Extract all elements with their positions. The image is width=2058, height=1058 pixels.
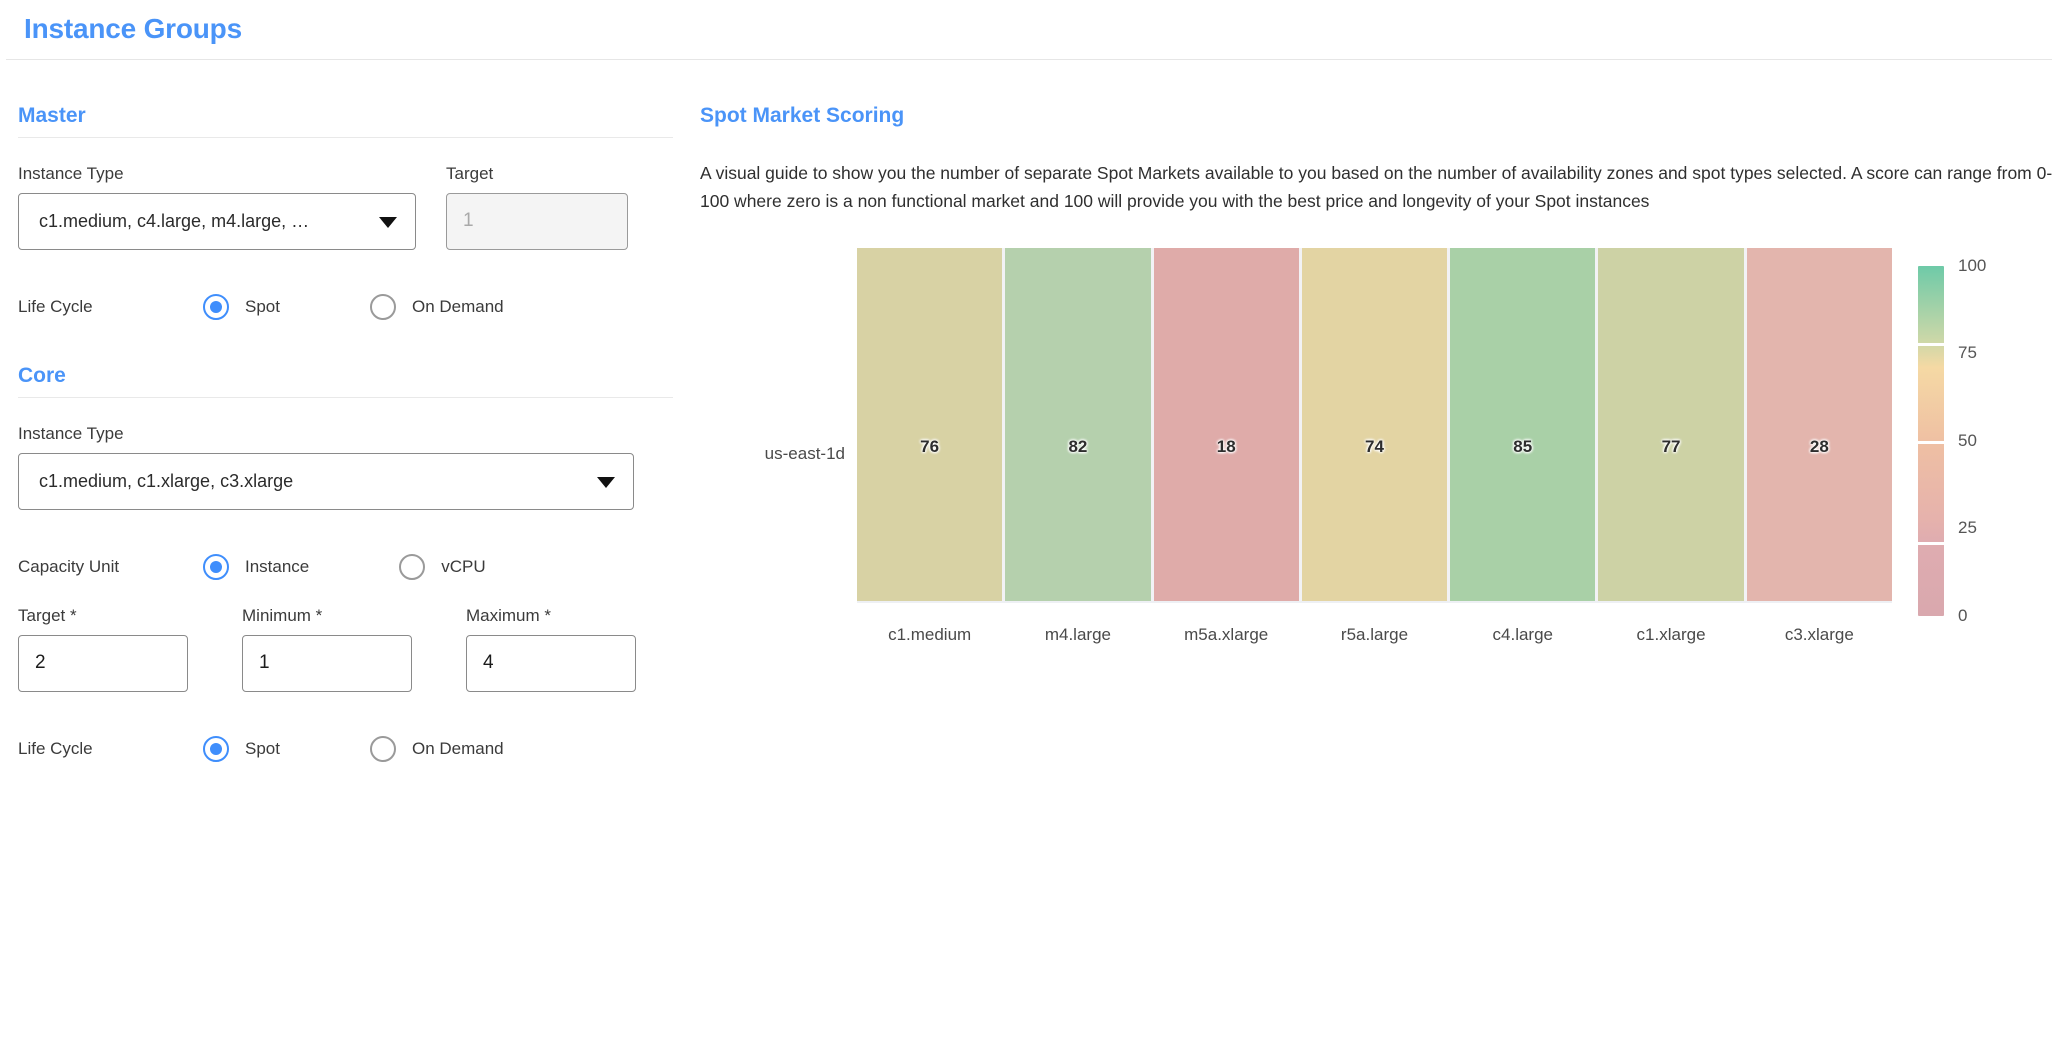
core-capacity-unit-vcpu-radio[interactable] — [399, 554, 425, 580]
colorbar-separator — [1918, 542, 1944, 545]
page-title: Instance Groups — [24, 14, 2052, 45]
heatmap-cell[interactable]: 76 — [857, 248, 1002, 601]
colorbar-separator — [1918, 441, 1944, 444]
master-fields-row: Instance Type c1.medium, c4.large, m4.la… — [18, 138, 690, 250]
core-minimum-label: Minimum * — [242, 606, 412, 626]
core-maximum-input[interactable]: 4 — [466, 635, 636, 692]
heatmap-cells: 76821874857728 — [857, 248, 1892, 601]
heatmap-colorbar: 1007550250 — [1918, 266, 2058, 636]
heatmap-cell[interactable]: 82 — [1005, 248, 1150, 601]
spot-market-scoring-panel: Spot Market Scoring A visual guide to sh… — [690, 60, 2058, 668]
page-header: Instance Groups — [6, 0, 2052, 60]
core-capacity-unit-vcpu-option[interactable]: vCPU — [399, 554, 485, 580]
colorbar-separator — [1918, 343, 1944, 346]
core-instance-type-value: c1.medium, c1.xlarge, c3.xlarge — [39, 471, 293, 492]
core-section-title: Core — [18, 364, 673, 387]
heatmap-cell-value: 18 — [1154, 437, 1299, 457]
core-life-cycle-label: Life Cycle — [18, 739, 203, 759]
heatmap-cell-value: 76 — [857, 437, 1002, 457]
core-life-cycle-ondemand-option[interactable]: On Demand — [370, 736, 504, 762]
master-life-cycle-label: Life Cycle — [18, 297, 203, 317]
chevron-down-icon — [597, 477, 615, 488]
spot-market-description: A visual guide to show you the number of… — [700, 159, 2055, 216]
core-minimum-input[interactable]: 1 — [242, 635, 412, 692]
core-life-cycle-spot-option[interactable]: Spot — [203, 736, 280, 762]
core-maximum-label: Maximum * — [466, 606, 636, 626]
core-instance-type-select[interactable]: c1.medium, c1.xlarge, c3.xlarge — [18, 453, 634, 510]
page-body: Master Instance Type c1.medium, c4.large… — [0, 60, 2058, 762]
heatmap-cell-value: 28 — [1747, 437, 1892, 457]
core-maximum-group: Maximum * 4 — [466, 606, 636, 692]
core-life-cycle-ondemand-radio[interactable] — [370, 736, 396, 762]
core-life-cycle-ondemand-label: On Demand — [412, 739, 504, 759]
core-capacity-unit-label: Capacity Unit — [18, 557, 203, 577]
chevron-down-icon — [379, 217, 397, 228]
heatmap-x-tick-label: c1.medium — [857, 603, 1002, 645]
heatmap-x-tick-label: m5a.xlarge — [1154, 603, 1299, 645]
spot-market-heatmap: us-east-1d 76821874857728 c1.mediumm4.la… — [700, 248, 2058, 668]
heatmap-row-label: us-east-1d — [700, 444, 845, 464]
heatmap-cell-value: 77 — [1598, 437, 1743, 457]
heatmap-x-tick-label: c4.large — [1450, 603, 1595, 645]
instance-groups-form: Master Instance Type c1.medium, c4.large… — [0, 60, 690, 762]
core-target-input[interactable]: 2 — [18, 635, 188, 692]
core-capacity-unit-instance-radio[interactable] — [203, 554, 229, 580]
core-life-cycle-spot-radio[interactable] — [203, 736, 229, 762]
master-life-cycle-ondemand-radio[interactable] — [370, 294, 396, 320]
colorbar-tick-label: 0 — [1958, 606, 1967, 626]
master-life-cycle-spot-label: Spot — [245, 297, 280, 317]
core-target-value: 2 — [35, 652, 46, 674]
master-instance-type-value: c1.medium, c4.large, m4.large, … — [39, 211, 309, 232]
master-section-header: Master — [18, 104, 673, 138]
master-life-cycle-spot-radio[interactable] — [203, 294, 229, 320]
core-capacity-unit-instance-option[interactable]: Instance — [203, 554, 309, 580]
heatmap-cell-value: 82 — [1005, 437, 1150, 457]
colorbar-tick-label: 50 — [1958, 431, 1977, 451]
colorbar-tick-label: 25 — [1958, 518, 1977, 538]
core-minimum-value: 1 — [259, 652, 270, 674]
core-capacity-unit-instance-label: Instance — [245, 557, 309, 577]
core-life-cycle-row: Life Cycle Spot On Demand — [18, 736, 690, 762]
heatmap-cell[interactable]: 18 — [1154, 248, 1299, 601]
core-instance-type-label: Instance Type — [18, 424, 690, 444]
heatmap-cell[interactable]: 74 — [1302, 248, 1447, 601]
heatmap-x-tick-label: c3.xlarge — [1747, 603, 1892, 645]
core-capacity-unit-row: Capacity Unit Instance vCPU — [18, 554, 690, 580]
heatmap-x-tick-label: r5a.large — [1302, 603, 1447, 645]
master-instance-type-group: Instance Type c1.medium, c4.large, m4.la… — [18, 138, 416, 250]
core-section-header: Core — [18, 364, 673, 398]
master-instance-type-label: Instance Type — [18, 164, 416, 184]
master-target-value: 1 — [463, 210, 474, 232]
master-target-group: Target 1 — [446, 138, 628, 250]
master-life-cycle-row: Life Cycle Spot On Demand — [18, 294, 690, 320]
heatmap-cell[interactable]: 77 — [1598, 248, 1743, 601]
heatmap-x-tick-label: c1.xlarge — [1598, 603, 1743, 645]
master-instance-type-select[interactable]: c1.medium, c4.large, m4.large, … — [18, 193, 416, 250]
master-target-label: Target — [446, 164, 628, 184]
heatmap-x-tick-label: m4.large — [1005, 603, 1150, 645]
core-maximum-value: 4 — [483, 652, 494, 674]
master-target-input[interactable]: 1 — [446, 193, 628, 250]
core-capacity-unit-vcpu-label: vCPU — [441, 557, 485, 577]
core-target-label: Target * — [18, 606, 188, 626]
core-capacity-inputs-row: Target * 2 Minimum * 1 Maximum * 4 — [18, 606, 690, 692]
colorbar-tick-label: 100 — [1958, 256, 1986, 276]
heatmap-cell-value: 74 — [1302, 437, 1447, 457]
colorbar-tick-label: 75 — [1958, 343, 1977, 363]
heatmap-cell-value: 85 — [1450, 437, 1595, 457]
heatmap-cell[interactable]: 85 — [1450, 248, 1595, 601]
master-life-cycle-ondemand-label: On Demand — [412, 297, 504, 317]
master-life-cycle-ondemand-option[interactable]: On Demand — [370, 294, 504, 320]
heatmap-cell[interactable]: 28 — [1747, 248, 1892, 601]
core-minimum-group: Minimum * 1 — [242, 606, 412, 692]
core-instance-type-group: Instance Type c1.medium, c1.xlarge, c3.x… — [18, 424, 690, 510]
core-target-group: Target * 2 — [18, 606, 188, 692]
spot-market-section-title: Spot Market Scoring — [700, 104, 2058, 127]
heatmap-x-axis: c1.mediumm4.largem5a.xlarger5a.largec4.l… — [857, 601, 1892, 645]
master-life-cycle-spot-option[interactable]: Spot — [203, 294, 280, 320]
master-section-title: Master — [18, 104, 673, 127]
core-life-cycle-spot-label: Spot — [245, 739, 280, 759]
